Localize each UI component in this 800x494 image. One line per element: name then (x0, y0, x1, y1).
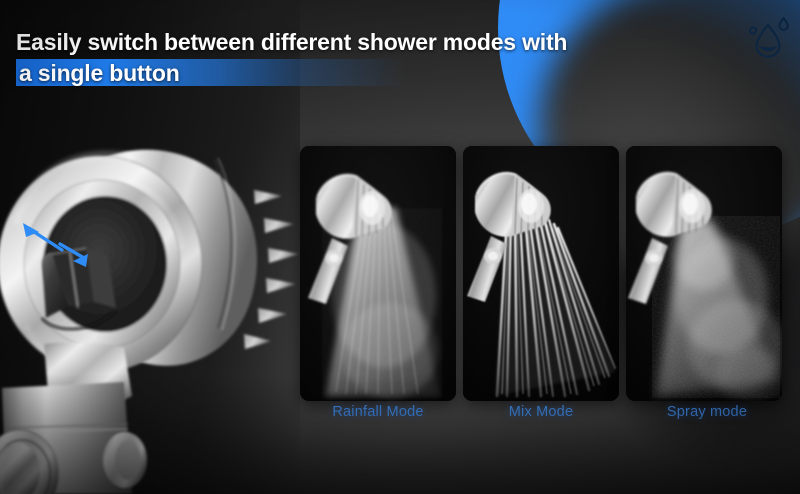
product-feature-banner: Easily switch between different shower m… (0, 0, 800, 494)
bottom-fade-overlay (0, 374, 800, 494)
